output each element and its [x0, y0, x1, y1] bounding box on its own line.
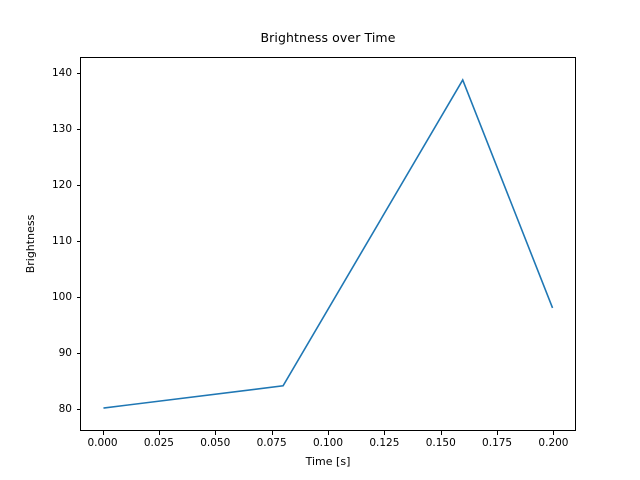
y-tick-mark [77, 73, 81, 74]
x-tick-mark [272, 431, 273, 435]
x-tick-label: 0.025 [144, 437, 174, 449]
x-tick-label: 0.150 [426, 437, 456, 449]
y-tick-mark [77, 241, 81, 242]
chart-figure: Brightness over Time 8090100110120130140… [0, 0, 640, 480]
x-tick-mark [215, 431, 216, 435]
y-tick-mark [77, 409, 81, 410]
x-tick-mark [497, 431, 498, 435]
x-tick-label: 0.075 [257, 437, 287, 449]
x-tick-mark [384, 431, 385, 435]
x-tick-label: 0.050 [200, 437, 230, 449]
x-tick-label: 0.175 [482, 437, 512, 449]
plot-area [80, 57, 576, 431]
x-axis-label: Time [s] [80, 455, 576, 468]
x-tick-label: 0.125 [369, 437, 399, 449]
x-tick-label: 0.200 [538, 437, 568, 449]
chart-title: Brightness over Time [80, 30, 576, 45]
x-tick-mark [328, 431, 329, 435]
y-tick-mark [77, 185, 81, 186]
y-tick-mark [77, 129, 81, 130]
x-tick-mark [103, 431, 104, 435]
x-tick-mark [553, 431, 554, 435]
x-tick-label: 0.000 [88, 437, 118, 449]
x-tick-label: 0.100 [313, 437, 343, 449]
y-axis-label: Brightness [24, 57, 40, 431]
brightness-line [103, 80, 552, 408]
x-tick-mark [441, 431, 442, 435]
y-tick-mark [77, 297, 81, 298]
y-tick-mark [77, 353, 81, 354]
x-tick-mark [159, 431, 160, 435]
line-series-svg [81, 58, 575, 430]
